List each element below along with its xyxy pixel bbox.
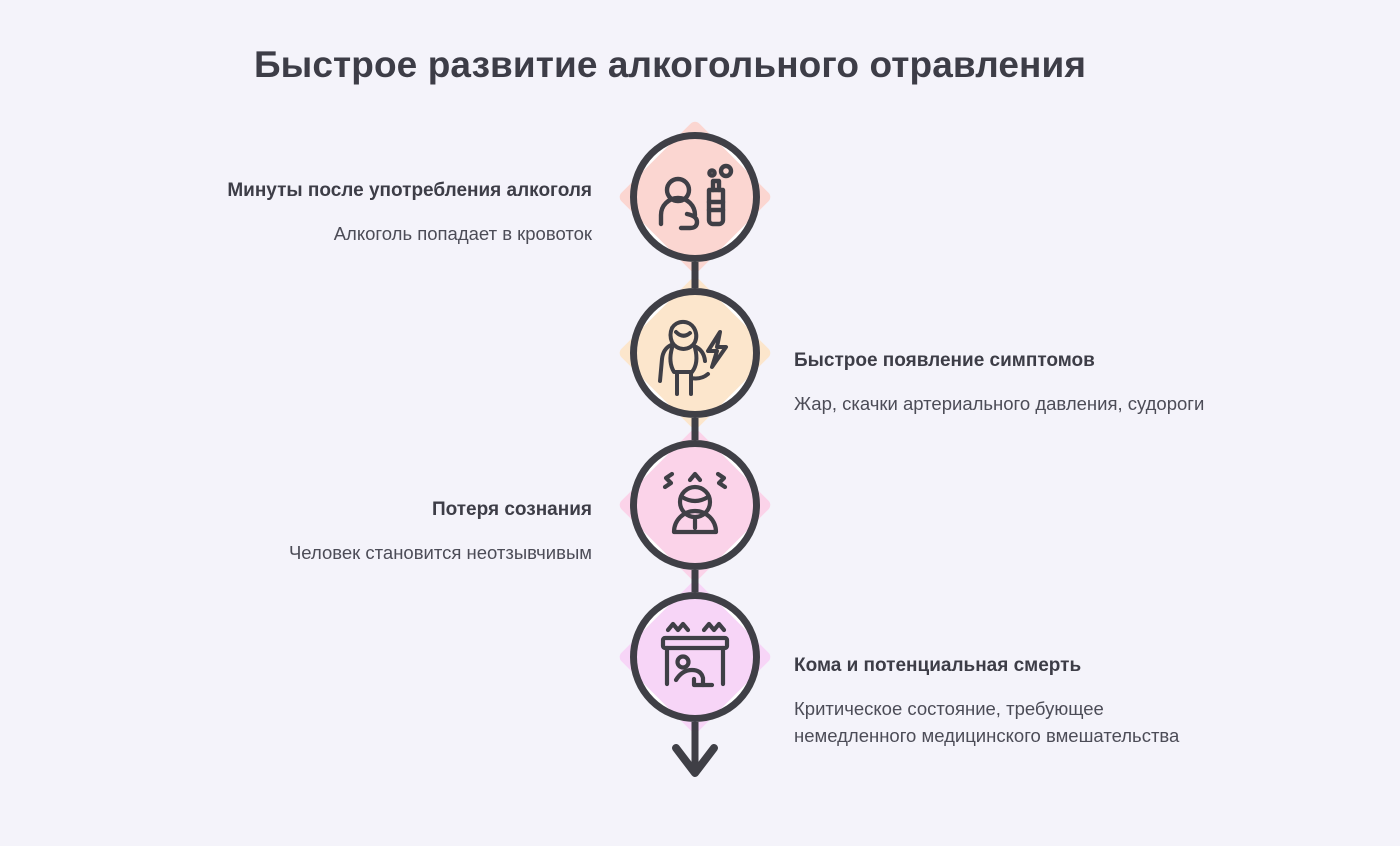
step-text-2: Быстрое появление симптомов Жар, скачки … [794, 348, 1224, 418]
step-node-3[interactable] [630, 440, 760, 570]
step-1-description: Алкоголь попадает в кровоток [162, 205, 592, 248]
step-3-description: Человек становится неотзывчивым [162, 524, 592, 567]
step-2-description: Жар, скачки артериального давления, судо… [794, 375, 1224, 418]
step-4-description: Критическое состояние, требующее немедле… [794, 680, 1224, 750]
step-4-ring [630, 592, 760, 722]
step-node-2[interactable] [630, 288, 760, 418]
down-arrow-icon [676, 748, 714, 773]
step-3-heading: Потеря сознания [162, 497, 592, 524]
step-2-heading: Быстрое появление симптомов [794, 348, 1224, 375]
step-node-4[interactable] [630, 592, 760, 722]
step-text-3: Потеря сознания Человек становится неотз… [162, 497, 592, 567]
page-title: Быстрое развитие алкогольного отравления [0, 44, 1340, 86]
step-2-ring [630, 288, 760, 418]
step-1-heading: Минуты после употребления алкоголя [162, 178, 592, 205]
step-text-1: Минуты после употребления алкоголя Алког… [162, 178, 592, 248]
step-4-heading: Кома и потенциальная смерть [794, 653, 1224, 680]
infographic-root: Быстрое развитие алкогольного отравления [0, 0, 1400, 846]
step-1-ring [630, 132, 760, 262]
step-3-ring [630, 440, 760, 570]
step-node-1[interactable] [630, 132, 760, 262]
step-text-4: Кома и потенциальная смерть Критическое … [794, 653, 1224, 750]
